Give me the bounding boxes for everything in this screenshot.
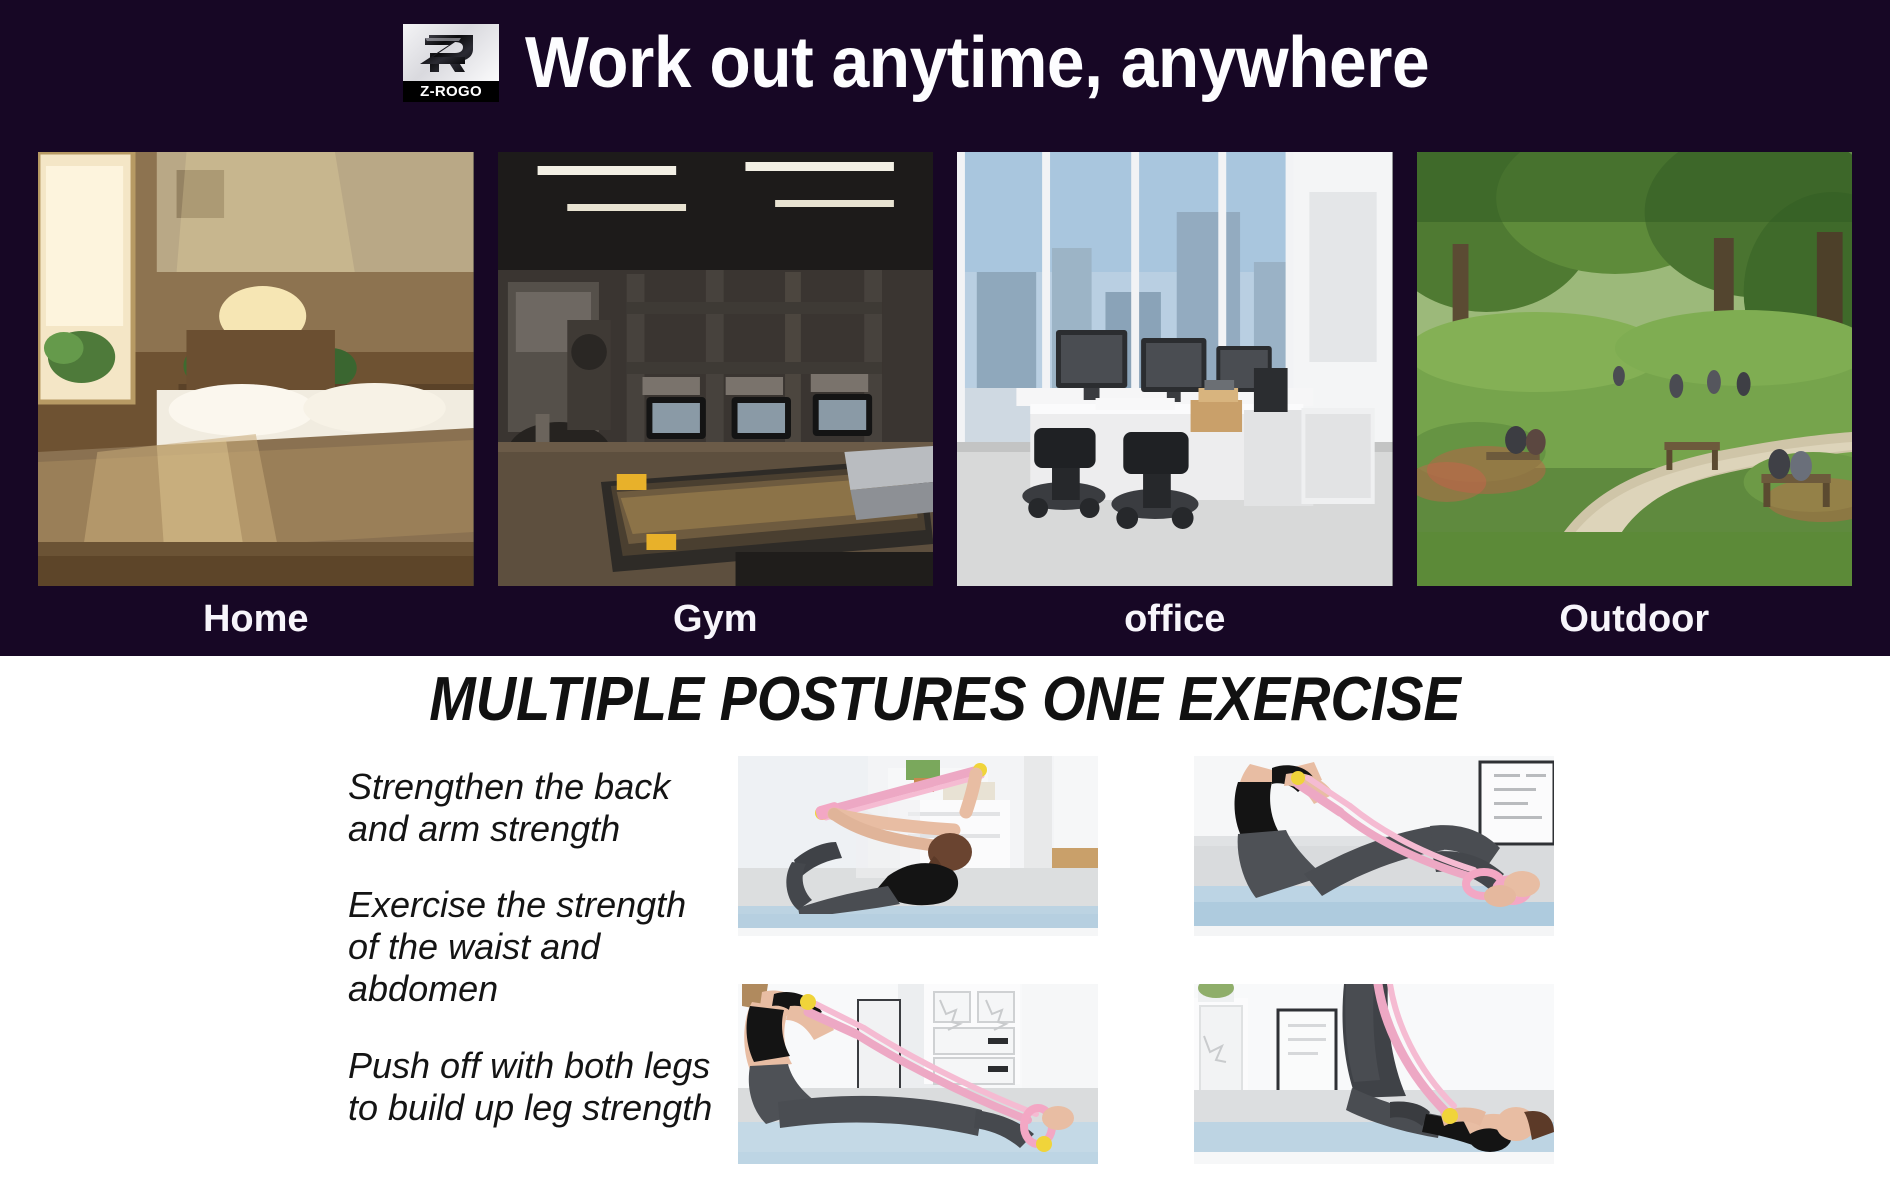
demo-photo-boat-pose-pull [738, 756, 1098, 936]
hero-panel: Z-ROGO Work out anytime, anywhere [0, 0, 1890, 656]
page-title: Work out anytime, anywhere [525, 22, 1429, 104]
demo-photo-seated-row [1194, 756, 1554, 936]
feature-item-legs: Push off with both legs to build up leg … [348, 1045, 720, 1129]
scene-image-office [957, 152, 1393, 586]
scene-image-outdoor [1417, 152, 1853, 586]
logo-mark-icon [403, 24, 499, 81]
feature-item-back-arm: Strengthen the back and arm strength [348, 766, 720, 850]
feature-list: Strengthen the back and arm strength Exe… [348, 766, 720, 1163]
demo-photo-grid [738, 756, 1554, 1180]
demo-photo-seated-leg-extension [738, 984, 1098, 1164]
header: Z-ROGO Work out anytime, anywhere [0, 0, 1890, 126]
features-title: MULTIPLE POSTURES ONE EXERCISE [95, 664, 1796, 735]
logo-wordmark: Z-ROGO [403, 81, 499, 102]
scene-labels: Home Gym office Outdoor [38, 590, 1852, 648]
feature-item-waist-abdomen: Exercise the strength of the waist and a… [348, 884, 720, 1010]
scene-label-home: Home [38, 590, 474, 648]
brand-logo: Z-ROGO [403, 24, 499, 102]
scene-image-gym [498, 152, 934, 586]
scene-label-gym: Gym [498, 590, 934, 648]
scene-label-outdoor: Outdoor [1417, 590, 1853, 648]
scene-image-home [38, 152, 474, 586]
demo-photo-lying-leg-raise [1194, 984, 1554, 1164]
features-panel: MULTIPLE POSTURES ONE EXERCISE Strengthe… [0, 656, 1890, 1200]
scene-label-office: office [957, 590, 1393, 648]
scene-image-strip [38, 152, 1852, 586]
